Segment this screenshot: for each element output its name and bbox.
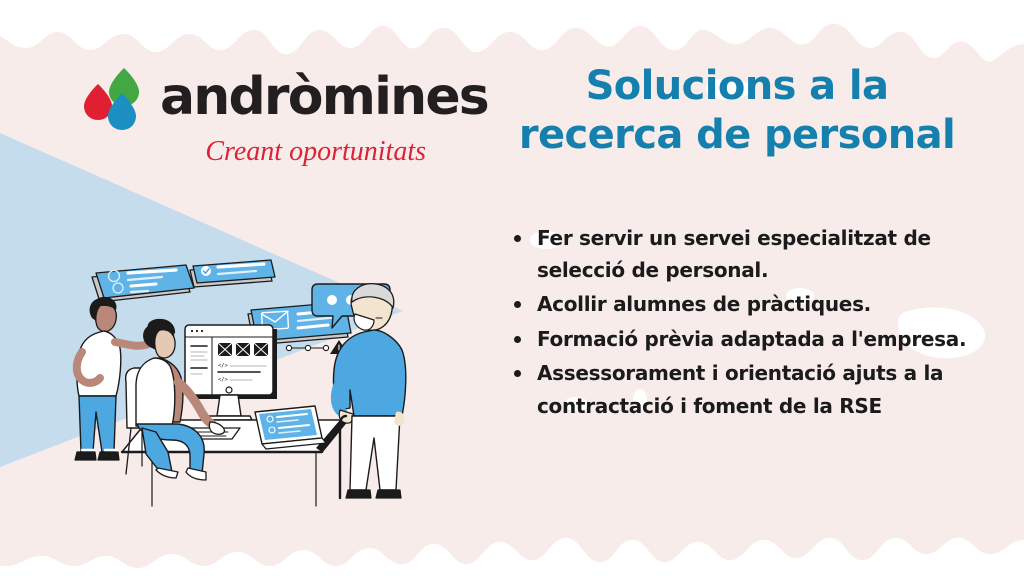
bullet-dot-icon xyxy=(514,370,521,377)
bullet-dot-icon xyxy=(514,336,521,343)
bullet-dot-icon xyxy=(514,235,521,242)
list-item-label: Assessorament i orientació ajuts a la co… xyxy=(537,361,943,417)
list-item: Acollir alumnes de pràctiques. xyxy=(510,288,986,320)
list-item: Assessorament i orientació ajuts a la co… xyxy=(510,357,986,422)
bullet-dot-icon xyxy=(514,301,521,308)
floating-card-approved xyxy=(190,260,275,287)
headline-line-2: recerca de personal xyxy=(519,112,955,158)
benefits-list: Fer servir un servei especialitzat de se… xyxy=(510,222,986,422)
droplets-icon xyxy=(84,66,150,130)
floating-card-list xyxy=(92,265,194,302)
headline-line-1: Solucions a la xyxy=(586,63,889,109)
list-item: Fer servir un servei especialitzat de se… xyxy=(510,222,986,287)
svg-text:</>: </> xyxy=(218,377,229,383)
page-title: Solucions a la recerca de personal xyxy=(488,62,986,160)
list-item-label: Acollir alumnes de pràctiques. xyxy=(537,292,871,316)
list-item: Formació prèvia adaptada a l'empresa. xyxy=(510,323,986,355)
logo-wordmark: andròmines xyxy=(160,71,488,123)
list-item-label: Formació prèvia adaptada a l'empresa. xyxy=(537,327,966,351)
tablet-device xyxy=(255,406,326,449)
slide-canvas: andròmines Creant oportunitats xyxy=(0,0,1024,576)
content-column: Solucions a la recerca de personal Fer s… xyxy=(488,62,986,424)
office-scene-illustration: </> </> xyxy=(30,240,450,520)
logo-tagline: Creant oportunitats xyxy=(84,136,464,168)
brand-logo: andròmines Creant oportunitats xyxy=(84,64,464,168)
list-item-label: Fer servir un servei especialitzat de se… xyxy=(537,226,931,282)
svg-text:</>: </> xyxy=(218,363,229,369)
logo-row: andròmines xyxy=(84,64,464,130)
